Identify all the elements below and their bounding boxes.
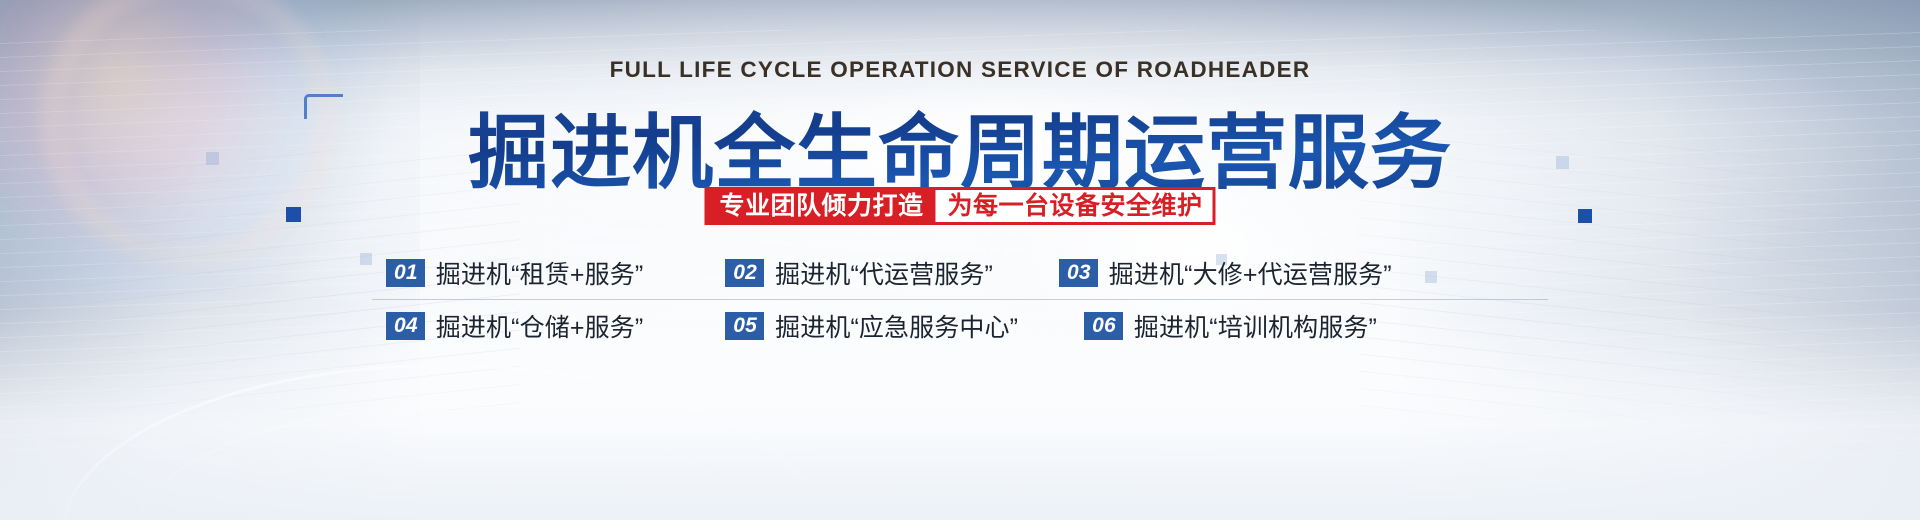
service-item-02[interactable]: 02 掘进机“代运营服务” bbox=[725, 255, 993, 291]
service-list: 01 掘进机“租赁+服务” 02 掘进机“代运营服务” 03 掘进机“大修+代运… bbox=[372, 247, 1548, 352]
service-row-top: 01 掘进机“租赁+服务” 02 掘进机“代运营服务” 03 掘进机“大修+代运… bbox=[372, 247, 1548, 300]
service-item-05[interactable]: 05 掘进机“应急服务中心” bbox=[725, 308, 1018, 344]
hero-banner: FULL LIFE CYCLE OPERATION SERVICE OF ROA… bbox=[0, 0, 1920, 520]
service-row-bottom: 04 掘进机“仓储+服务” 05 掘进机“应急服务中心” 06 掘进机“培训机构… bbox=[372, 300, 1548, 352]
service-item-06[interactable]: 06 掘进机“培训机构服务” bbox=[1084, 308, 1377, 344]
service-label-04: 掘进机“仓储+服务” bbox=[436, 308, 644, 344]
tagline-secondary: 为每一台设备安全维护 bbox=[936, 190, 1213, 222]
service-label-01: 掘进机“租赁+服务” bbox=[436, 255, 644, 291]
service-number-badge-03: 03 bbox=[1059, 259, 1098, 287]
service-item-04[interactable]: 04 掘进机“仓储+服务” bbox=[386, 308, 643, 344]
tagline-ribbon: 专业团队倾力打造 为每一台设备安全维护 bbox=[704, 187, 1215, 225]
service-number-badge-05: 05 bbox=[725, 312, 764, 340]
tagline-primary: 专业团队倾力打造 bbox=[707, 190, 935, 222]
banner-content: FULL LIFE CYCLE OPERATION SERVICE OF ROA… bbox=[0, 0, 1920, 520]
service-label-02: 掘进机“代运营服务” bbox=[775, 255, 993, 291]
service-item-01[interactable]: 01 掘进机“租赁+服务” bbox=[386, 255, 643, 291]
service-label-03: 掘进机“大修+代运营服务” bbox=[1109, 255, 1392, 291]
banner-eyebrow: FULL LIFE CYCLE OPERATION SERVICE OF ROA… bbox=[0, 57, 1920, 83]
service-number-badge-06: 06 bbox=[1084, 312, 1123, 340]
service-label-05: 掘进机“应急服务中心” bbox=[775, 308, 1018, 344]
service-item-03[interactable]: 03 掘进机“大修+代运营服务” bbox=[1059, 255, 1392, 291]
service-number-badge-01: 01 bbox=[386, 259, 425, 287]
service-label-06: 掘进机“培训机构服务” bbox=[1134, 308, 1377, 344]
service-number-badge-02: 02 bbox=[725, 259, 764, 287]
service-number-badge-04: 04 bbox=[386, 312, 425, 340]
